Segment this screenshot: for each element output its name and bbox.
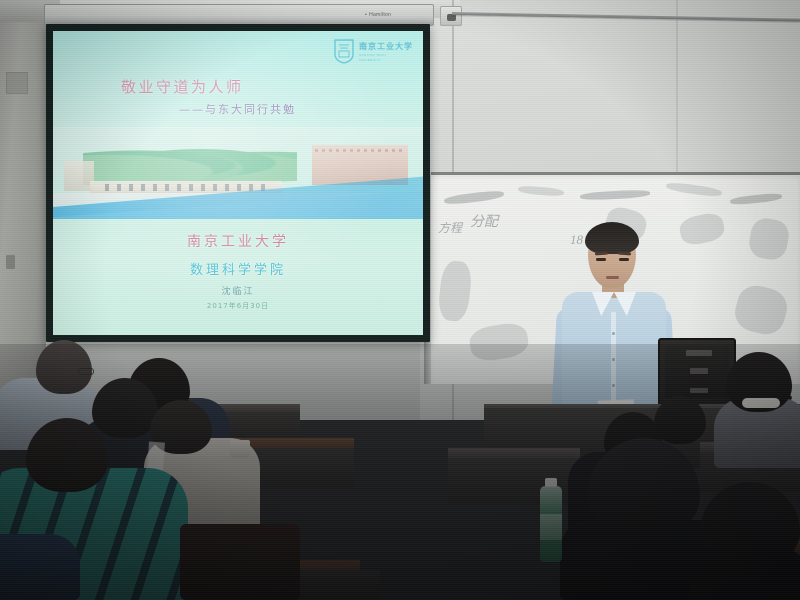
university-logo: 南京工业大学 NANJING TECH UNIVERSITY bbox=[334, 39, 413, 64]
slide-date: 2017年6月30日 bbox=[53, 301, 423, 311]
chair-back bbox=[180, 524, 300, 600]
presenter-shirt-button bbox=[612, 384, 615, 387]
eyeglasses bbox=[78, 368, 94, 375]
whiteboard-note: 方程 bbox=[438, 219, 462, 236]
slide-campus-photo bbox=[53, 127, 423, 219]
whiteboard-scribble bbox=[678, 211, 727, 248]
photo-building bbox=[312, 145, 408, 185]
audience-head bbox=[92, 378, 158, 438]
paper-cup bbox=[230, 440, 250, 458]
presenter-eye-left bbox=[596, 258, 606, 261]
presenter-hair bbox=[585, 222, 639, 254]
wordmark-chinese: 南京工业大学 bbox=[359, 41, 413, 52]
whiteboard-note: 分配 bbox=[470, 211, 498, 231]
presenter-eye-right bbox=[619, 258, 629, 261]
whiteboard-scribble bbox=[666, 181, 723, 198]
projection-screen: 南京工业大学 NANJING TECH UNIVERSITY 敬业守道为人师 —… bbox=[53, 31, 423, 335]
whiteboard-scribble bbox=[444, 189, 505, 205]
slide-college-name: 数理科学学院 bbox=[53, 259, 423, 278]
whiteboard-scribble bbox=[468, 321, 531, 364]
monitor-bezel-detail bbox=[690, 388, 708, 393]
slide-main-title: 敬业守道为人师 bbox=[121, 76, 244, 97]
whiteboard-scribble bbox=[730, 192, 783, 205]
slide-subtitle: ——与东大同行共勉 bbox=[179, 101, 296, 117]
whiteboard-scribble bbox=[747, 216, 791, 262]
wordmark-english-line1: NANJING TECH bbox=[359, 53, 413, 57]
projector-brand-label: Hamilton bbox=[365, 12, 391, 18]
audience-body bbox=[690, 548, 800, 600]
monitor-bezel-detail bbox=[686, 350, 712, 356]
monitor-bezel-detail bbox=[690, 368, 708, 374]
pillar-wall-box bbox=[6, 72, 28, 94]
slide-speaker-name: 沈临江 bbox=[53, 284, 423, 297]
presenter-shirt-button bbox=[612, 332, 615, 335]
university-wordmark: 南京工业大学 NANJING TECH UNIVERSITY bbox=[359, 41, 413, 62]
whiteboard-scribble bbox=[518, 185, 565, 197]
wordmark-english-line2: UNIVERSITY bbox=[359, 58, 413, 62]
water-bottle[interactable] bbox=[540, 478, 562, 562]
photo-trees bbox=[83, 141, 298, 185]
lecture-hall-scene: 方程 分配 18世 Hamilton 南京工业大学 NANJING TECH bbox=[0, 0, 800, 600]
presenter-shirt-button bbox=[612, 358, 615, 361]
left-wall-pillar bbox=[0, 0, 46, 400]
presenter-mouth bbox=[606, 276, 619, 279]
whiteboard-scribble bbox=[437, 260, 473, 323]
whiteboard-scribble bbox=[731, 282, 791, 339]
audience-body bbox=[0, 534, 80, 600]
university-shield-emblem bbox=[334, 39, 354, 64]
pillar-mark bbox=[6, 255, 15, 269]
audience-head bbox=[36, 340, 92, 394]
rail-bracket bbox=[440, 6, 462, 26]
collar bbox=[742, 398, 780, 408]
audience-head bbox=[654, 396, 706, 444]
projection-screen-frame: 南京工业大学 NANJING TECH UNIVERSITY 敬业守道为人师 —… bbox=[46, 24, 430, 342]
whiteboard-scribble bbox=[580, 189, 650, 201]
projector-screen-housing: Hamilton bbox=[44, 4, 434, 26]
bottle-label bbox=[540, 514, 562, 540]
slide-university-name: 南京工业大学 bbox=[53, 231, 423, 251]
